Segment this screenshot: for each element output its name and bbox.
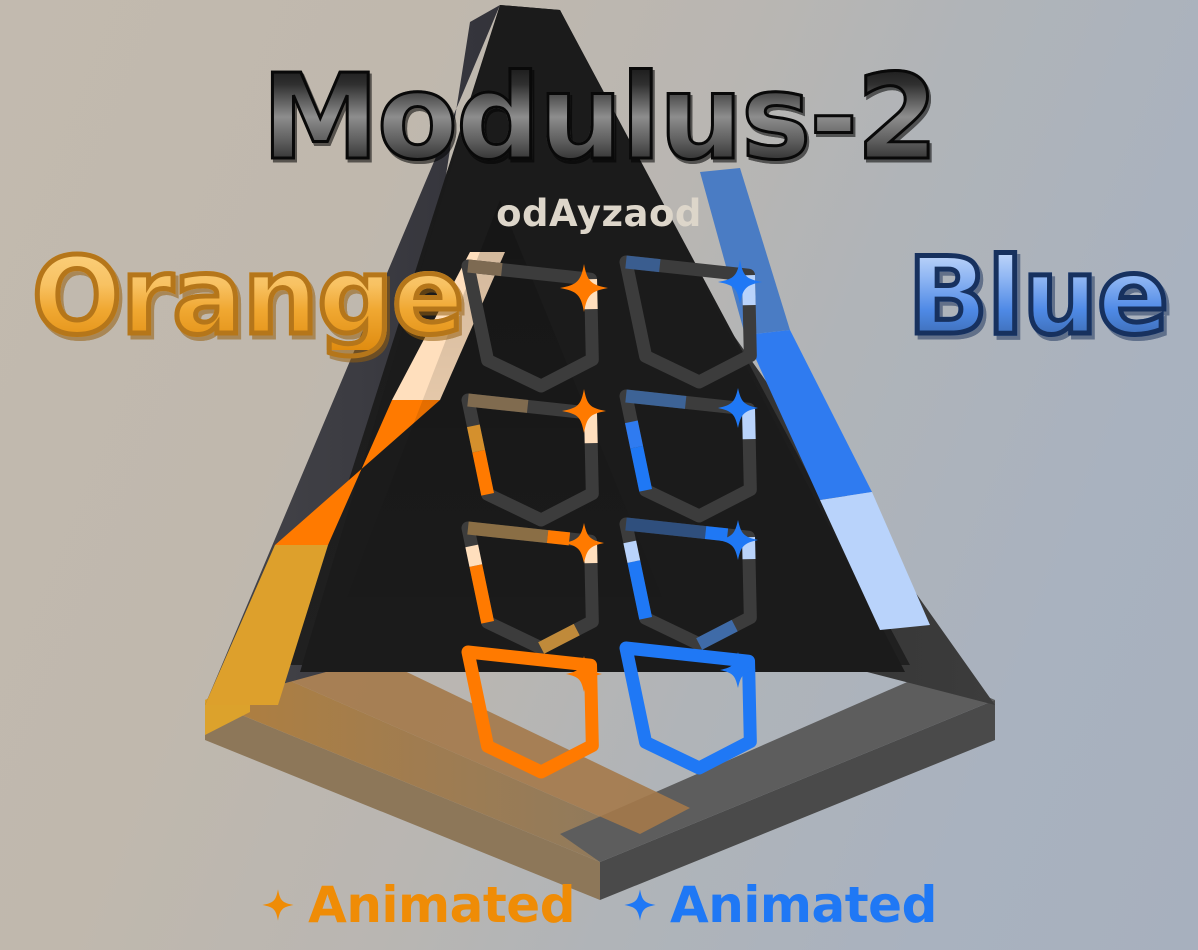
- variant-label-orange: Orange: [32, 244, 463, 350]
- poster-canvas: Modulus-2 odAyzaod Orange Blue Animated …: [0, 0, 1198, 950]
- legend-item-blue: Animated: [623, 876, 937, 934]
- sparkle-icon: [261, 888, 295, 922]
- variant-label-blue-text: Blue: [908, 244, 1168, 350]
- footer-legend: Animated Animated: [0, 876, 1198, 934]
- page-subtitle: odAyzaod: [0, 195, 1198, 232]
- variant-label-orange-text: Orange: [32, 244, 463, 350]
- legend-item-orange: Animated: [261, 876, 575, 934]
- pyramid-base: [205, 640, 995, 900]
- page-title: Modulus-2: [0, 58, 1198, 176]
- base-bevel-right: [560, 672, 995, 862]
- variant-label-blue: Blue: [908, 244, 1168, 350]
- shield-blue-row4[interactable]: [626, 633, 761, 775]
- page-title-text: Modulus-2: [262, 58, 937, 176]
- sparkle-icon: [623, 888, 657, 922]
- legend-label-blue: Animated: [670, 876, 937, 934]
- legend-label-orange: Animated: [308, 876, 575, 934]
